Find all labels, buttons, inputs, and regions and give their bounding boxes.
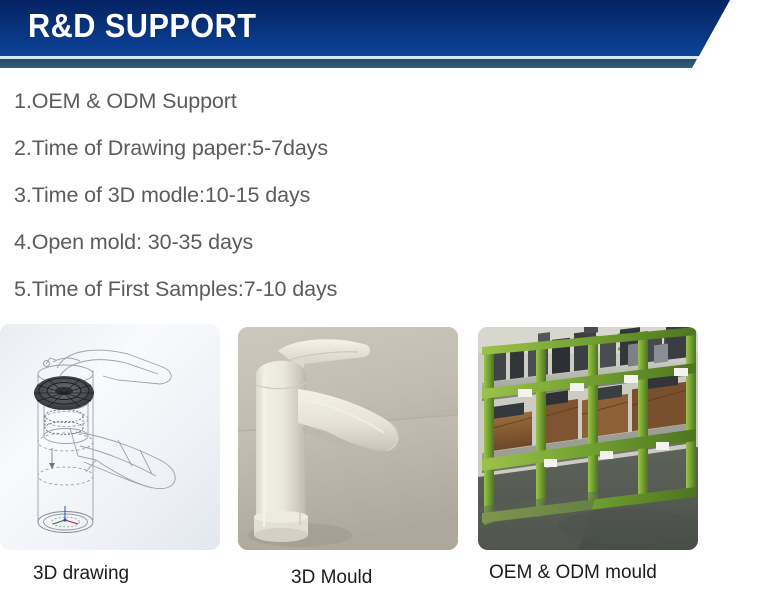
- white-faucet-prototype-icon: [238, 327, 458, 550]
- warehouse-mould-rack-icon: [478, 327, 698, 550]
- caption-oem-mould: OEM & ODM mould: [489, 562, 657, 584]
- list-item: 1.OEM & ODM Support: [0, 78, 766, 125]
- header-hairline-divider: [0, 56, 766, 59]
- caption-3d-drawing: 3D drawing: [33, 563, 129, 585]
- list-item: 2.Time of Drawing paper:5-7days: [0, 125, 766, 172]
- header-underbar: [0, 59, 766, 68]
- feature-list: 1.OEM & ODM Support 2.Time of Drawing pa…: [0, 78, 766, 313]
- warehouse-mould-rack-image: [478, 327, 698, 550]
- list-item: 4.Open mold: 30-35 days: [0, 219, 766, 266]
- list-item: 3.Time of 3D modle:10-15 days: [0, 172, 766, 219]
- cad-wireframe-faucet-image: [0, 324, 220, 550]
- page-title: R&D SUPPORT: [28, 7, 256, 45]
- cad-wireframe-faucet-icon: [0, 324, 220, 550]
- white-faucet-prototype-image: [238, 327, 458, 550]
- caption-3d-mould: 3D Mould: [291, 567, 372, 589]
- list-item: 5.Time of First Samples:7-10 days: [0, 266, 766, 313]
